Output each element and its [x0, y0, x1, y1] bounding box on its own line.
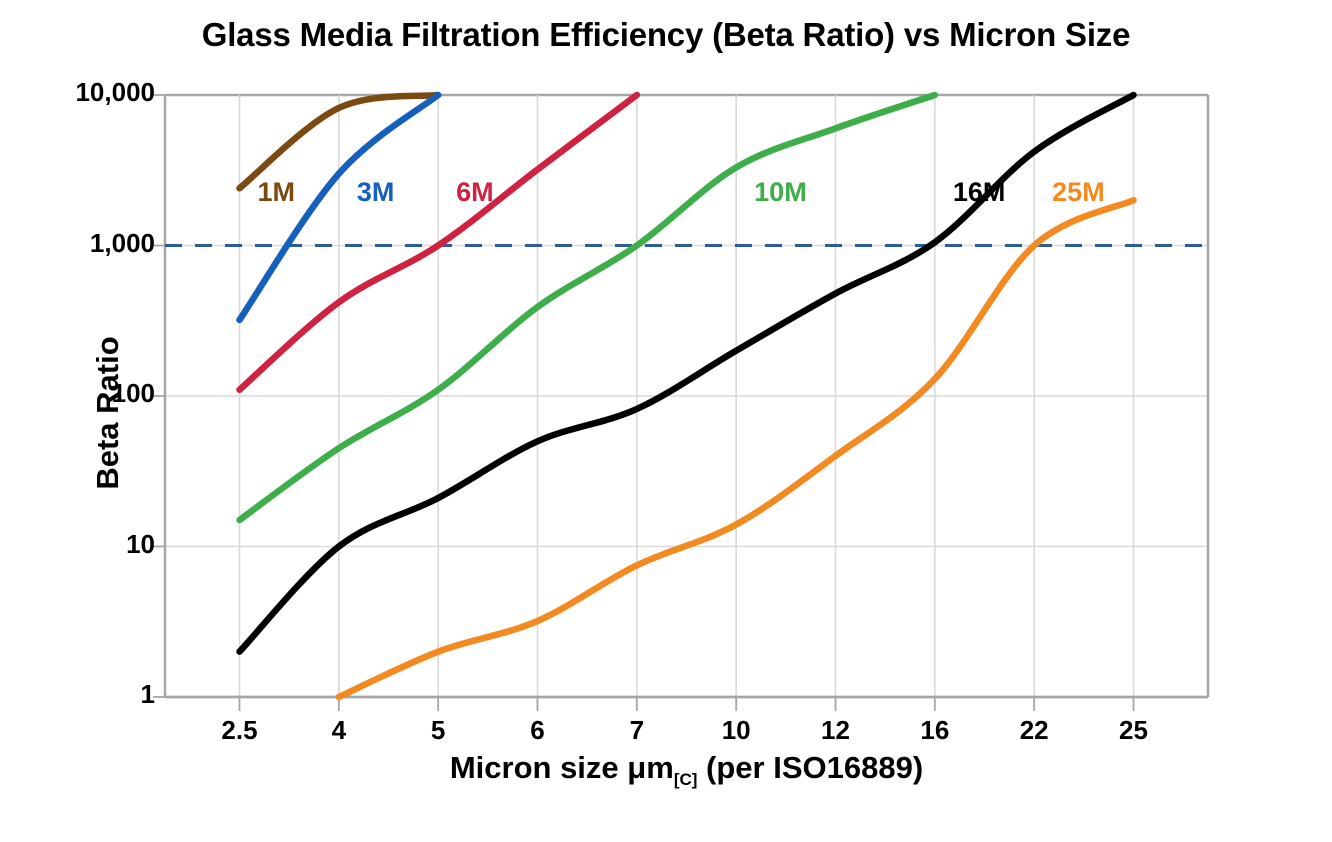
series-label-16M: 16M	[953, 177, 1006, 208]
x-axis-tick-label: 5	[393, 715, 483, 746]
x-axis-tick-label: 2.5	[195, 715, 285, 746]
x-axis-title-subscript: [C]	[674, 770, 698, 789]
axis-lines	[153, 95, 1208, 711]
y-axis-title: Beta Ratio	[90, 283, 126, 543]
series-label-6M: 6M	[456, 177, 494, 208]
x-axis-tick-label: 6	[493, 715, 583, 746]
y-axis-tick-label: 1	[25, 679, 155, 710]
x-axis-tick-label: 12	[791, 715, 881, 746]
x-axis-title-suffix: (per ISO16889)	[697, 750, 923, 785]
x-axis-tick-label: 16	[890, 715, 980, 746]
chart-container: Glass Media Filtration Efficiency (Beta …	[0, 0, 1332, 842]
x-axis-title: Micron size μm[C] (per ISO16889)	[165, 750, 1208, 786]
y-axis-tick-label: 1,000	[25, 228, 155, 259]
x-axis-title-main: Micron size μm	[450, 750, 674, 785]
series-label-10M: 10M	[754, 177, 807, 208]
x-axis-tick-label: 7	[592, 715, 682, 746]
y-axis-tick-label: 10,000	[25, 77, 155, 108]
x-axis-tick-label: 25	[1089, 715, 1179, 746]
x-axis-tick-label: 4	[294, 715, 384, 746]
x-axis-tick-label: 10	[691, 715, 781, 746]
x-axis-tick-label: 22	[989, 715, 1079, 746]
series-label-1M: 1M	[258, 177, 296, 208]
series-label-25M: 25M	[1052, 177, 1105, 208]
series-label-3M: 3M	[357, 177, 395, 208]
y-axis-ticks: 1101001,00010,000	[10, 0, 155, 842]
